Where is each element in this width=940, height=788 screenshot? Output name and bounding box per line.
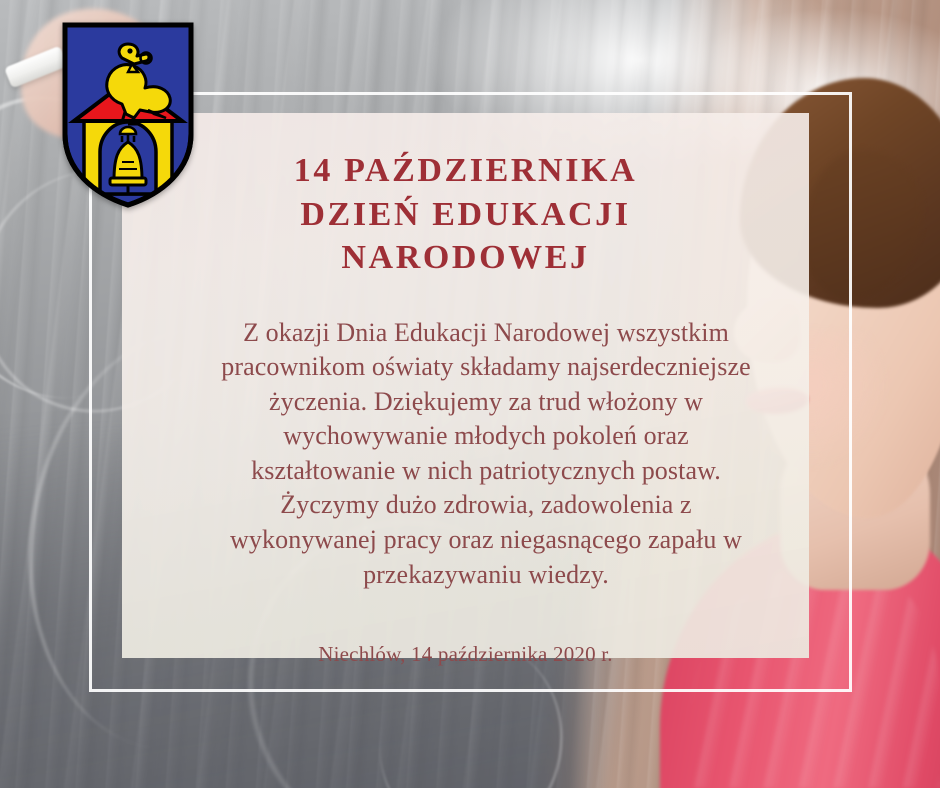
body-line-5: kształtowanie w nich patriotycznych post… [166,454,806,489]
eagle-eye [127,48,132,53]
body-line-7: wykonywanej pracy oraz niegasnącego zapa… [166,523,806,558]
title-line-3: NARODOWEJ [166,236,765,280]
title-line-2: DZIEŃ EDUKACJI [166,193,765,237]
greeting-body-text: Z okazji Dnia Edukacji Narodowej wszystk… [166,316,806,593]
bell-canon [120,127,136,134]
body-line-4: wychowywanie młodych pokoleń oraz [166,419,806,454]
poster-dzien-edukacji-narodowej: 14 PAŹDZIERNIKA DZIEŃ EDUKACJI NARODOWEJ… [0,0,940,788]
coat-of-arms-icon [62,22,194,208]
bell-rim [110,178,146,185]
body-line-1: Z okazji Dnia Edukacji Narodowej wszystk… [166,316,806,351]
body-line-8: przekazywaniu wiedzy. [166,558,806,593]
title-line-1: 14 PAŹDZIERNIKA [166,149,765,193]
page-title: 14 PAŹDZIERNIKA DZIEŃ EDUKACJI NARODOWEJ [166,149,765,280]
message-card: 14 PAŹDZIERNIKA DZIEŃ EDUKACJI NARODOWEJ… [122,113,809,658]
body-line-3: życzenia. Dziękujemy za trud włożony w [166,385,806,420]
signature-place-date: Niechlów, 14 października 2020 r. [166,642,765,667]
body-line-2: pracownikom oświaty składamy najserdeczn… [166,350,806,385]
body-line-6: Życzymy dużo zdrowia, zadowolenia z [166,488,806,523]
